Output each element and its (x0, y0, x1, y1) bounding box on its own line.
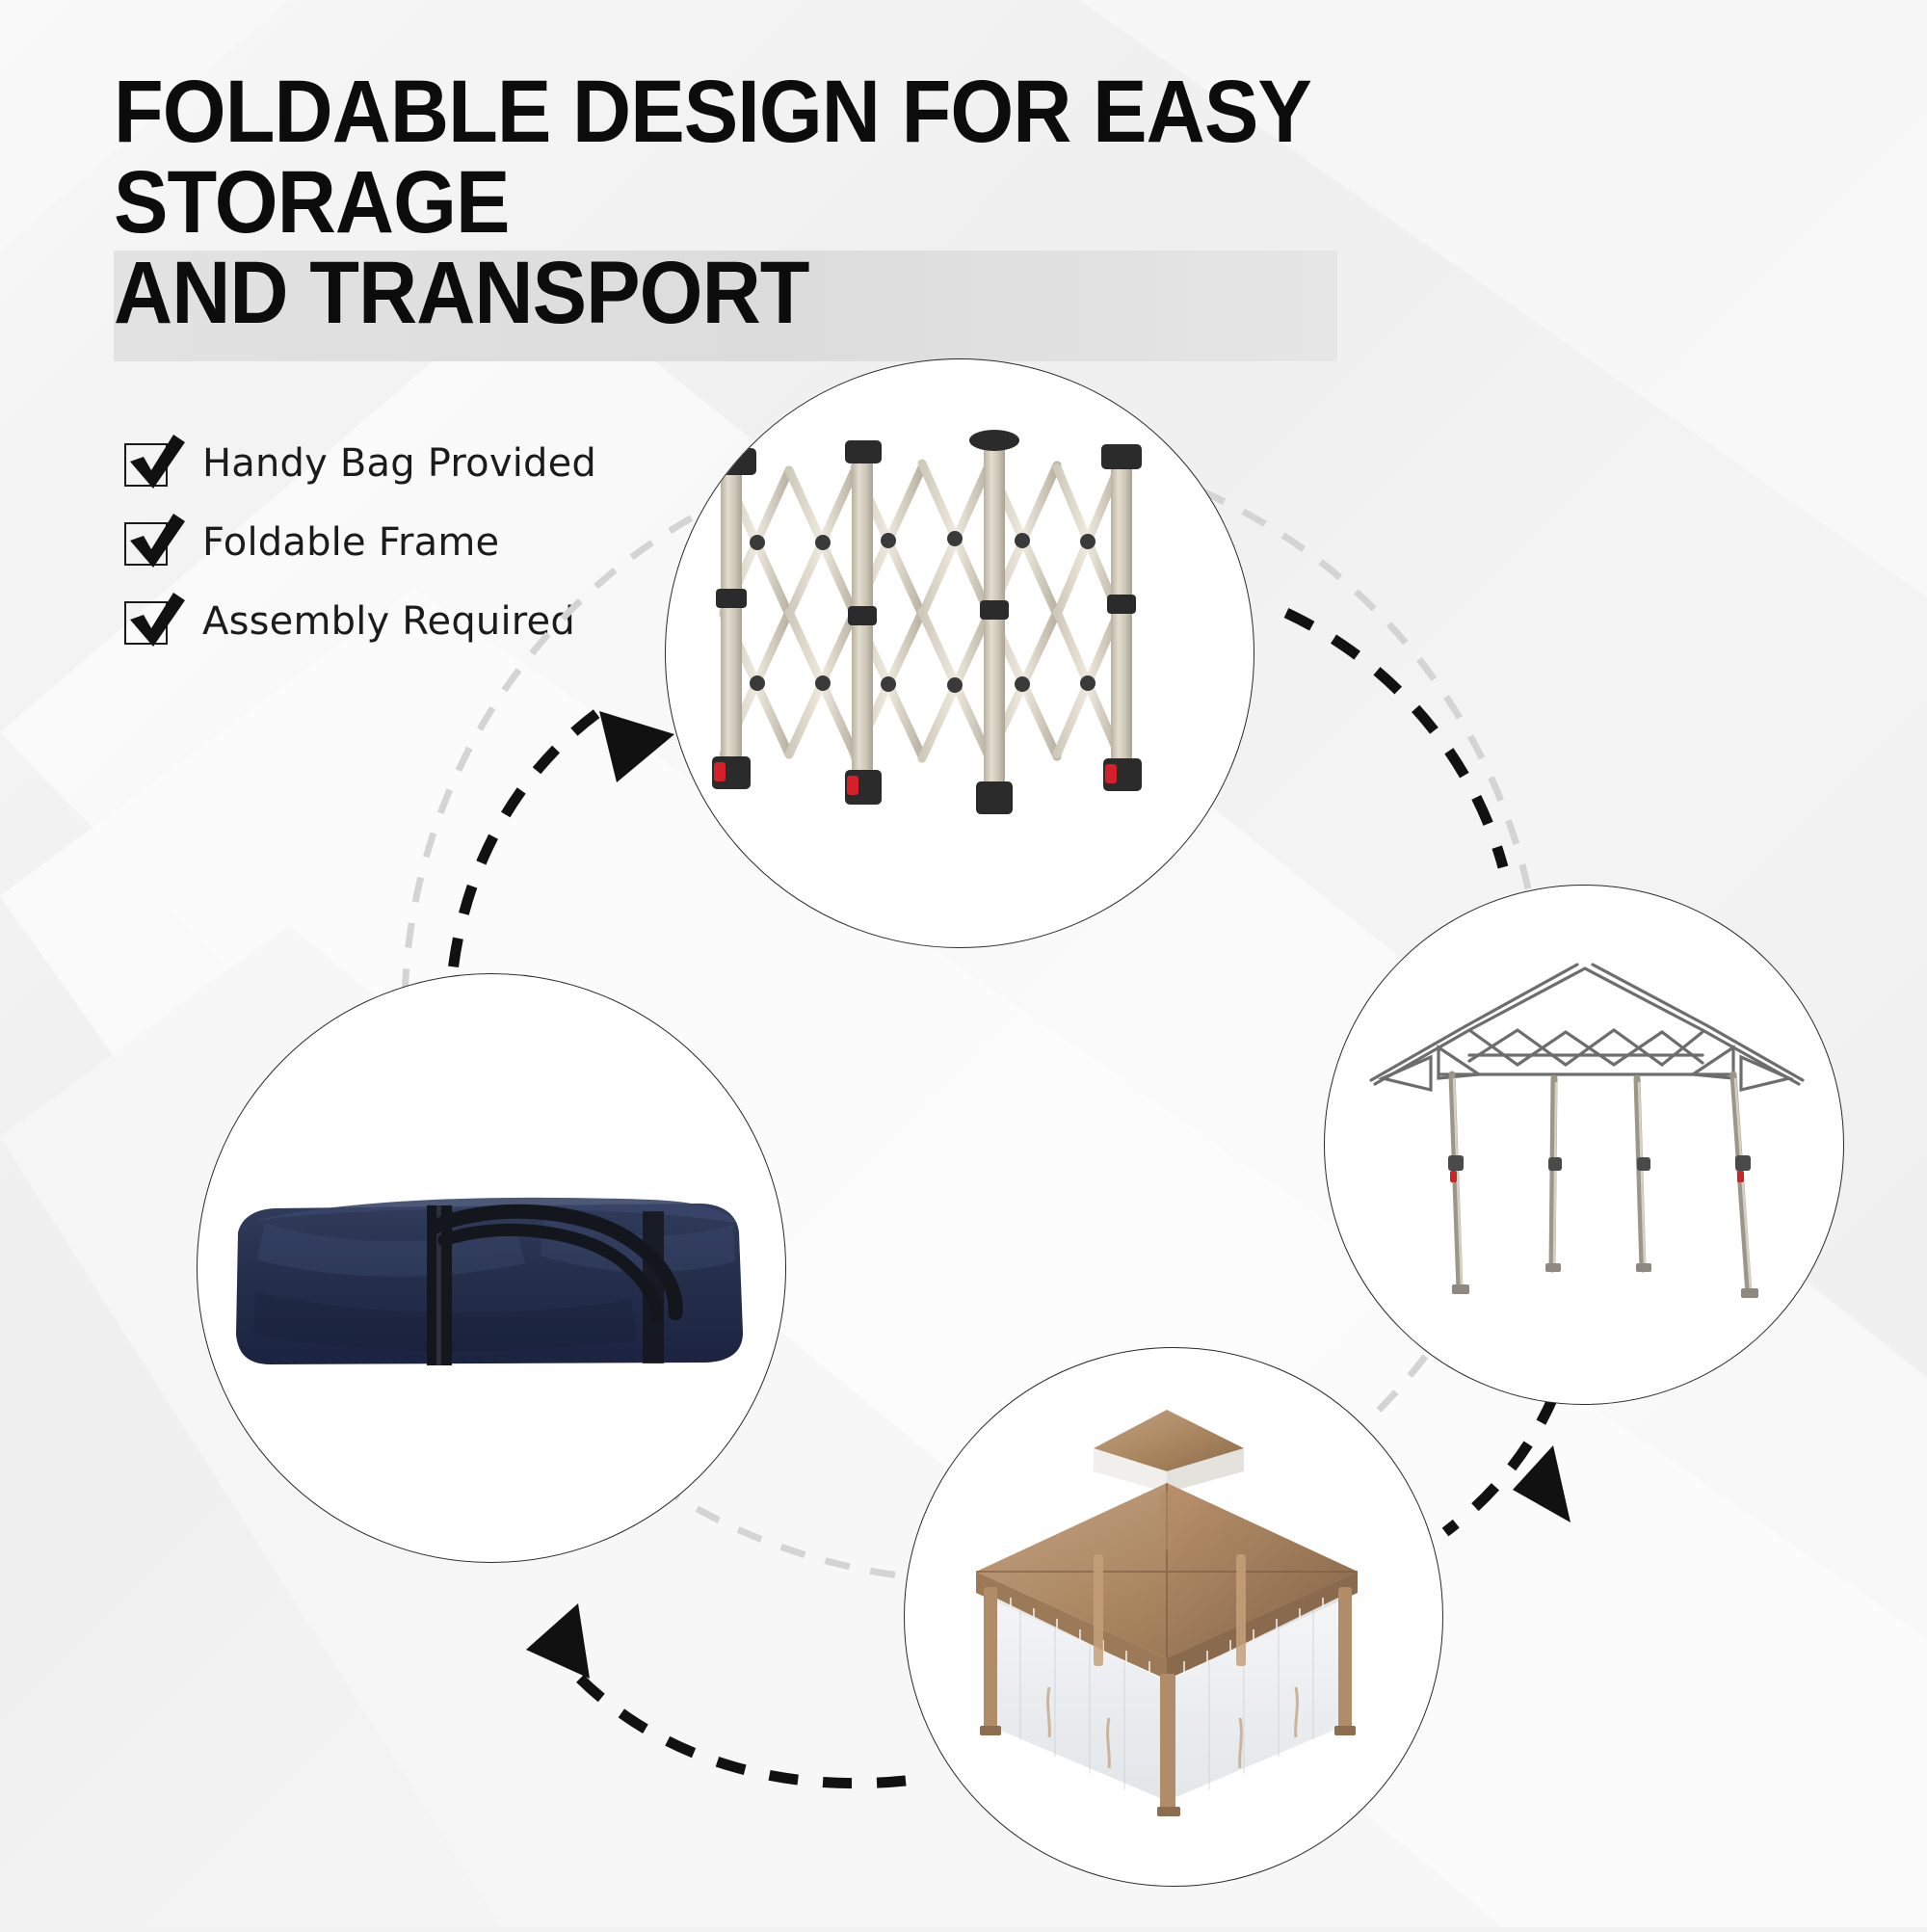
checkbox-checked-icon[interactable] (123, 518, 177, 567)
checkbox-checked-icon[interactable] (123, 439, 177, 488)
step-circle-open-frame[interactable] (1324, 885, 1844, 1405)
open-frame-icon (1325, 886, 1844, 1405)
title-block: FOLDABLE DESIGN FOR EASY STORAGE AND TRA… (114, 67, 1800, 338)
assembled-gazebo-icon (905, 1348, 1443, 1887)
carry-bag-icon (198, 974, 786, 1563)
step-circle-folded-frame[interactable] (665, 358, 1254, 948)
bag-strap-right (643, 1211, 664, 1363)
infographic-canvas: FOLDABLE DESIGN FOR EASY STORAGE AND TRA… (0, 0, 1927, 1927)
release-button (714, 762, 1117, 795)
feature-checklist: Handy Bag Provided Foldable Frame Assemb… (123, 424, 596, 661)
list-item: Foldable Frame (123, 503, 596, 582)
checkbox-checked-icon[interactable] (123, 597, 177, 646)
list-item: Assembly Required (123, 582, 596, 661)
list-item-label: Foldable Frame (202, 520, 499, 565)
list-item-label: Handy Bag Provided (202, 441, 596, 486)
page-title: FOLDABLE DESIGN FOR EASY STORAGE AND TRA… (114, 67, 1665, 338)
folded-scissor-frame-icon (666, 359, 1254, 948)
step-circle-assembled-gazebo[interactable] (904, 1347, 1443, 1887)
step-circle-carry-bag[interactable] (197, 973, 786, 1563)
list-item: Handy Bag Provided (123, 424, 596, 503)
list-item-label: Assembly Required (202, 599, 575, 644)
